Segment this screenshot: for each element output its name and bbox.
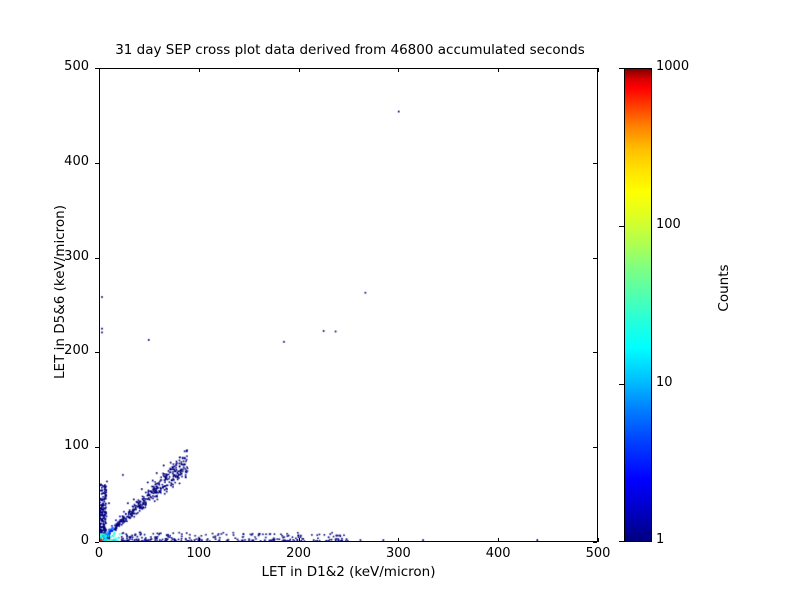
- x-tick-mark-top: [299, 68, 300, 72]
- y-tick-mark: [95, 352, 99, 353]
- y-tick-mark: [95, 447, 99, 448]
- x-tick-mark: [199, 538, 200, 542]
- x-tick-label: 100: [164, 546, 234, 561]
- colorbar[interactable]: 1101001000: [624, 68, 652, 542]
- x-tick-label: 0: [64, 546, 134, 561]
- colorbar-tick-mark: [619, 68, 624, 69]
- chart-title-line-1: 31 day SEP cross plot data derived from …: [0, 42, 700, 59]
- x-tick-mark: [398, 538, 399, 542]
- colorbar-label: Counts: [716, 228, 732, 348]
- y-tick-mark: [95, 68, 99, 69]
- scatter-plot-canvas: [100, 69, 597, 541]
- x-tick-mark-top: [199, 68, 200, 72]
- colorbar-tick-mark: [619, 541, 624, 542]
- y-tick-mark: [95, 258, 99, 259]
- x-tick-mark: [299, 538, 300, 542]
- figure-canvas: 31 day SEP cross plot data derived from …: [0, 0, 800, 600]
- x-tick-mark: [498, 538, 499, 542]
- y-tick-mark-right: [593, 447, 597, 448]
- y-tick-mark-right: [593, 542, 597, 543]
- y-axis-label: LET in D5&6 (keV/micron): [52, 137, 68, 447]
- x-tick-mark-top: [398, 68, 399, 72]
- x-tick-label: 300: [363, 546, 433, 561]
- x-tick-mark-top: [99, 68, 100, 72]
- y-tick-mark-right: [593, 352, 597, 353]
- colorbar-tick-label: 10: [656, 375, 673, 390]
- colorbar-tick-label: 1: [656, 532, 664, 547]
- x-tick-mark-top: [598, 68, 599, 72]
- y-tick-mark: [95, 163, 99, 164]
- colorbar-tick-label: 100: [656, 217, 681, 232]
- y-tick-mark-right: [593, 258, 597, 259]
- y-tick-mark-right: [593, 68, 597, 69]
- plot-area[interactable]: [99, 68, 598, 542]
- x-tick-label: 400: [463, 546, 533, 561]
- colorbar-tick-mark: [619, 226, 624, 227]
- x-tick-label: 200: [264, 546, 334, 561]
- colorbar-gradient: [624, 68, 652, 542]
- y-tick-label: 0: [29, 533, 89, 548]
- colorbar-tick-label: 1000: [656, 59, 689, 74]
- x-tick-label: 500: [563, 546, 633, 561]
- y-tick-label: 500: [29, 59, 89, 74]
- x-tick-mark-top: [498, 68, 499, 72]
- y-tick-mark: [95, 542, 99, 543]
- x-tick-mark: [99, 538, 100, 542]
- y-tick-mark-right: [593, 163, 597, 164]
- colorbar-tick-mark: [619, 384, 624, 385]
- x-tick-mark: [598, 538, 599, 542]
- x-axis-label: LET in D1&2 (keV/micron): [99, 564, 598, 580]
